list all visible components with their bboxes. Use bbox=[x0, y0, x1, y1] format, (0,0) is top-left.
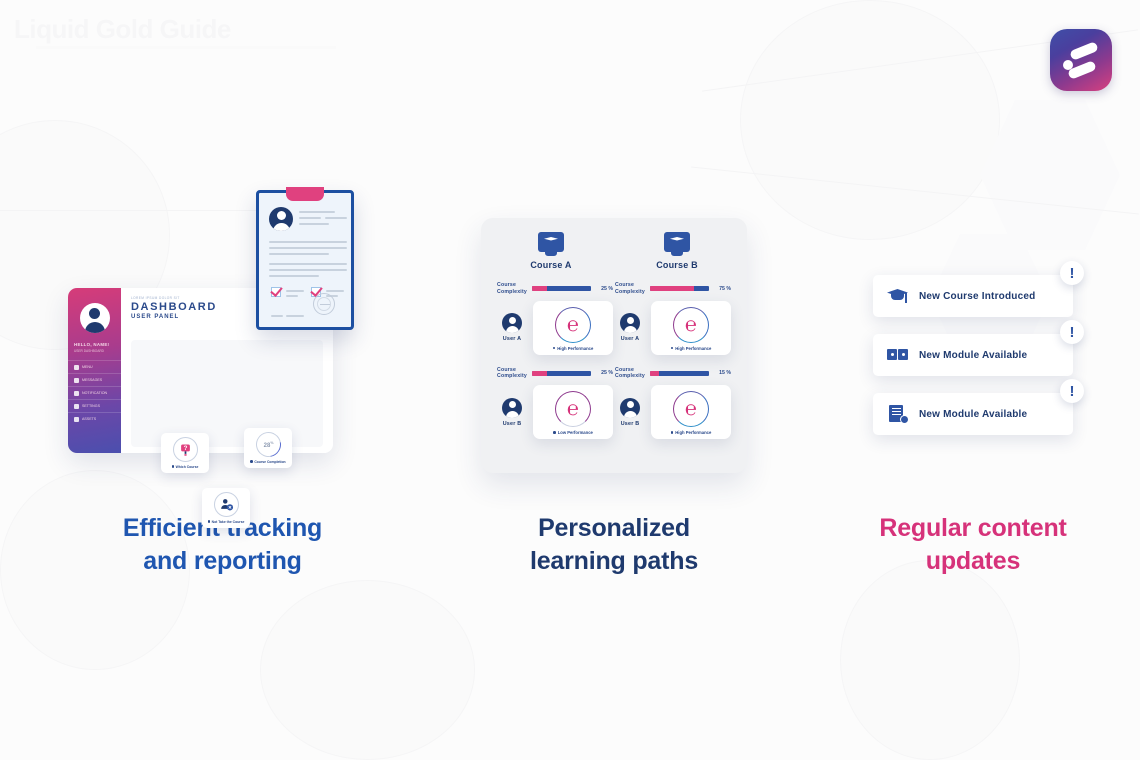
complexity-row: Course Complexity 25 % bbox=[497, 282, 613, 296]
user-icon bbox=[502, 313, 522, 333]
poster-canvas: Liquid Gold Guide HELLO, NAME! USER DASH… bbox=[0, 0, 1140, 760]
path-cell-a1: Course Complexity 25 % User A bbox=[497, 282, 613, 355]
course-name: Course B bbox=[623, 260, 731, 270]
notification-label: New Course Introduced bbox=[919, 291, 1035, 302]
alert-badge-icon: ! bbox=[1060, 379, 1084, 403]
paths-illustration: Course A Course B Course Complexity bbox=[481, 170, 747, 490]
caption-line-2: learning paths bbox=[481, 545, 747, 578]
watermark-title-rule bbox=[36, 46, 336, 49]
notification-new-course[interactable]: New Course Introduced ! bbox=[873, 275, 1073, 317]
user-x-icon bbox=[214, 492, 239, 517]
user-icon bbox=[620, 313, 640, 333]
complexity-bar-fill bbox=[532, 371, 547, 376]
notification-new-module-1[interactable]: New Module Available ! bbox=[873, 334, 1073, 376]
brand-logo[interactable] bbox=[1050, 29, 1112, 91]
kpi-value: 28 bbox=[263, 443, 270, 449]
modules-icon bbox=[887, 345, 909, 365]
user-chip: User A bbox=[497, 313, 527, 342]
alert-badge-icon: ! bbox=[1060, 320, 1084, 344]
question-badge-icon: ? bbox=[173, 437, 198, 462]
course-name: Course A bbox=[497, 260, 605, 270]
complexity-bar bbox=[650, 286, 709, 291]
dashboard-hello: HELLO, NAME! bbox=[74, 342, 115, 347]
bell-icon bbox=[74, 391, 79, 396]
report-card bbox=[256, 190, 354, 330]
mail-icon bbox=[74, 378, 79, 383]
caption-line-1: Personalized bbox=[481, 512, 747, 545]
performance-card[interactable]: ℮ High Performance bbox=[533, 301, 613, 355]
graduation-cap-icon bbox=[887, 286, 909, 306]
path-row-user-a: Course Complexity 25 % User A bbox=[497, 282, 731, 355]
performance-label: High Performance bbox=[553, 346, 594, 351]
caption-line-1: Regular content bbox=[873, 512, 1073, 545]
caption-paths: Personalized learning paths bbox=[481, 512, 747, 578]
sidebar-item-messages[interactable]: MESSAGES bbox=[68, 373, 121, 386]
watermark-search-circle bbox=[260, 580, 475, 760]
watermark-title: Liquid Gold Guide bbox=[14, 14, 231, 45]
performance-card[interactable]: ℮ High Performance bbox=[651, 301, 731, 355]
complexity-label: Course Complexity bbox=[615, 282, 645, 296]
sidebar-item-notification[interactable]: NOTIFICATION bbox=[68, 386, 121, 399]
user-chip: User B bbox=[615, 398, 645, 427]
performance-row: User B ℮ High Performance bbox=[615, 385, 731, 439]
logo-stroke-top bbox=[1069, 41, 1099, 61]
user-name: User A bbox=[615, 336, 645, 342]
complexity-label: Course Complexity bbox=[615, 367, 645, 381]
kpi-label: Not Take the Course bbox=[208, 520, 245, 524]
notification-label: New Module Available bbox=[919, 350, 1027, 361]
checkbox-checked[interactable] bbox=[271, 287, 281, 297]
clipboard-tab bbox=[286, 187, 324, 201]
user-chip: User B bbox=[497, 398, 527, 427]
gauge-icon: ℮ bbox=[555, 391, 591, 427]
complexity-bar bbox=[532, 371, 591, 376]
performance-row: User A ℮ High Performance bbox=[615, 301, 731, 355]
complexity-row: Course Complexity 75 % bbox=[615, 282, 731, 296]
certificate-doc-icon bbox=[887, 404, 909, 424]
graduation-monitor-icon bbox=[538, 232, 564, 252]
progress-ring-icon: 28% bbox=[251, 427, 286, 462]
complexity-label: Course Complexity bbox=[497, 367, 527, 381]
dashboard-menu: MENU MESSAGES NOTIFICATION SETTINGS ASSE… bbox=[68, 360, 121, 425]
complexity-bar-fill bbox=[650, 371, 659, 376]
complexity-row: Course Complexity 15 % bbox=[615, 367, 731, 381]
dashboard-content-area bbox=[131, 340, 323, 447]
svg-text:?: ? bbox=[183, 445, 187, 452]
sidebar-item-label: MESSAGES bbox=[82, 378, 102, 382]
avatar bbox=[80, 303, 110, 333]
folder-icon bbox=[74, 417, 79, 422]
column-paths: Course A Course B Course Complexity bbox=[481, 170, 747, 578]
sidebar-item-label: MENU bbox=[82, 365, 93, 369]
complexity-bar-fill bbox=[650, 286, 694, 291]
grid-icon bbox=[74, 365, 79, 370]
notification-label: New Module Available bbox=[919, 409, 1027, 420]
complexity-row: Course Complexity 25 % bbox=[497, 367, 613, 381]
path-cell-a2: Course Complexity 25 % User B bbox=[497, 367, 613, 440]
watermark-circle-bottom-right bbox=[840, 560, 1020, 760]
user-icon bbox=[620, 398, 640, 418]
performance-row: User B ℮ Low Performance bbox=[497, 385, 613, 439]
performance-label: High Performance bbox=[671, 346, 712, 351]
course-b-header: Course B bbox=[623, 232, 731, 270]
kpi-label: Course Completion bbox=[250, 460, 285, 464]
complexity-pct: 25 % bbox=[596, 286, 613, 292]
user-name: User B bbox=[615, 421, 645, 427]
approval-seal bbox=[313, 293, 335, 315]
performance-row: User A ℮ High Performance bbox=[497, 301, 613, 355]
path-cell-b2: Course Complexity 15 % User B bbox=[615, 367, 731, 440]
tracking-illustration: HELLO, NAME! USER DASHBOARD MENU MESSAGE… bbox=[60, 170, 385, 490]
kpi-unit: % bbox=[270, 441, 273, 445]
complexity-pct: 15 % bbox=[714, 370, 731, 376]
course-headers: Course A Course B bbox=[497, 232, 731, 270]
performance-card[interactable]: ℮ Low Performance bbox=[533, 385, 613, 439]
complexity-pct: 25 % bbox=[596, 370, 613, 376]
course-a-header: Course A bbox=[497, 232, 605, 270]
notification-new-module-2[interactable]: New Module Available ! bbox=[873, 393, 1073, 435]
complexity-bar bbox=[532, 286, 591, 291]
alert-badge-icon: ! bbox=[1060, 261, 1084, 285]
caption-updates: Regular content updates bbox=[873, 512, 1073, 578]
graduation-monitor-icon bbox=[664, 232, 690, 252]
sidebar-item-label: SETTINGS bbox=[82, 404, 100, 408]
complexity-pct: 75 % bbox=[714, 286, 731, 292]
user-name: User A bbox=[497, 336, 527, 342]
complexity-bar bbox=[650, 371, 709, 376]
path-row-user-b: Course Complexity 25 % User B bbox=[497, 367, 731, 440]
gauge-icon: ℮ bbox=[555, 307, 591, 343]
column-tracking: HELLO, NAME! USER DASHBOARD MENU MESSAGE… bbox=[60, 170, 385, 578]
kpi-not-taken[interactable]: Not Take the Course bbox=[202, 488, 250, 528]
kpi-which-course[interactable]: ? Which Course bbox=[161, 433, 209, 473]
complexity-bar-fill bbox=[532, 286, 547, 291]
avatar bbox=[269, 207, 293, 231]
sidebar-item-label: ASSETS bbox=[82, 417, 96, 421]
gauge-icon: ℮ bbox=[673, 391, 709, 427]
sidebar-item-label: NOTIFICATION bbox=[82, 391, 107, 395]
updates-illustration: New Course Introduced ! New Module Avail… bbox=[873, 170, 1073, 490]
sidebar-item-menu[interactable]: MENU bbox=[68, 360, 121, 373]
sidebar-item-assets[interactable]: ASSETS bbox=[68, 412, 121, 425]
caption-line-2: updates bbox=[873, 545, 1073, 578]
dashboard-role: USER DASHBOARD bbox=[74, 349, 115, 353]
user-name: User B bbox=[497, 421, 527, 427]
notification-list: New Course Introduced ! New Module Avail… bbox=[873, 275, 1073, 452]
dashboard-sidebar: HELLO, NAME! USER DASHBOARD MENU MESSAGE… bbox=[68, 288, 121, 453]
sidebar-item-settings[interactable]: SETTINGS bbox=[68, 399, 121, 412]
user-icon bbox=[502, 398, 522, 418]
user-chip: User A bbox=[615, 313, 645, 342]
performance-label: High Performance bbox=[671, 430, 712, 435]
kpi-label: Which Course bbox=[172, 465, 199, 469]
complexity-label: Course Complexity bbox=[497, 282, 527, 296]
gear-icon bbox=[74, 404, 79, 409]
kpi-course-completion[interactable]: 28% Course Completion bbox=[244, 428, 292, 468]
performance-label: Low Performance bbox=[553, 430, 593, 435]
caption-line-2: and reporting bbox=[60, 545, 385, 578]
logo-dot bbox=[1063, 60, 1073, 70]
path-cell-b1: Course Complexity 75 % User A bbox=[615, 282, 731, 355]
column-updates: New Course Introduced ! New Module Avail… bbox=[873, 170, 1073, 578]
gauge-icon: ℮ bbox=[673, 307, 709, 343]
performance-card[interactable]: ℮ High Performance bbox=[651, 385, 731, 439]
learning-paths-panel: Course A Course B Course Complexity bbox=[481, 218, 747, 473]
